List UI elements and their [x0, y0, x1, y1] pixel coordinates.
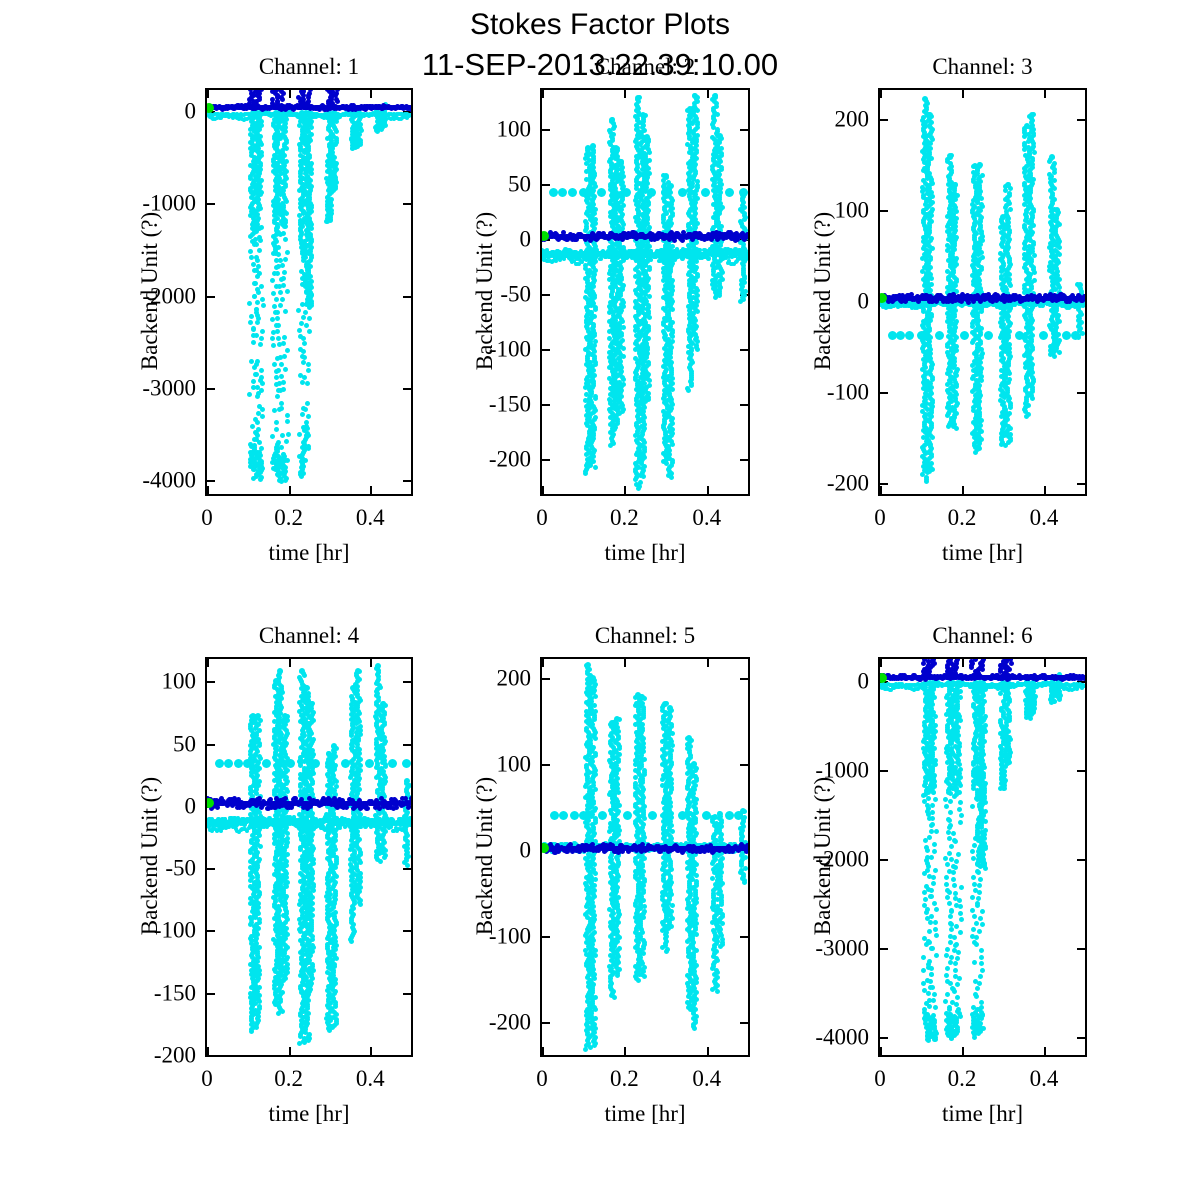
data-point: [408, 113, 412, 117]
x-tick: [962, 90, 964, 98]
data-point: [270, 278, 275, 283]
x-axis-title: time [hr]: [205, 540, 413, 566]
data-point: [259, 375, 264, 380]
data-point: [608, 443, 613, 448]
data-point: [283, 257, 288, 262]
data-point: [568, 188, 577, 197]
data-point: [303, 310, 308, 315]
subplot-title-1: Channel: 1: [205, 54, 413, 80]
data-point: [276, 440, 281, 445]
data-point: [259, 368, 264, 373]
data-point: [248, 249, 253, 254]
data-point: [617, 411, 622, 416]
data-point: [255, 394, 260, 399]
data-point: [260, 297, 265, 302]
y-tick-label: 0: [185, 100, 197, 123]
data-point: [277, 478, 282, 483]
data-point: [259, 284, 264, 289]
data-point: [284, 476, 289, 481]
data-point: [281, 283, 286, 288]
data-point: [260, 407, 265, 412]
data-point: [259, 336, 264, 341]
y-tick: [740, 404, 748, 406]
data-point: [279, 401, 284, 406]
y-tick-label: -50: [500, 282, 531, 305]
data-point: [669, 475, 674, 480]
y-tick: [880, 119, 888, 121]
data-point: [283, 309, 288, 314]
x-tick: [370, 486, 372, 494]
data-point: [678, 188, 687, 197]
data-point: [281, 341, 286, 346]
y-tick: [542, 294, 550, 296]
data-point: [279, 406, 284, 411]
data-point: [301, 360, 306, 365]
data-point: [279, 362, 284, 367]
x-tick: [962, 486, 964, 494]
data-point: [305, 401, 310, 406]
data-point: [300, 380, 305, 385]
y-tick-label: -150: [489, 392, 531, 415]
data-point: [256, 427, 261, 432]
y-tick: [542, 404, 550, 406]
data-point: [612, 427, 617, 432]
x-tick: [707, 90, 709, 98]
x-tick-label: 0.2: [274, 506, 303, 529]
data-point: [279, 445, 284, 450]
data-point: [280, 297, 285, 302]
data-point: [593, 307, 598, 312]
x-tick: [207, 486, 209, 494]
data-point: [251, 340, 256, 345]
data-point: [597, 188, 606, 197]
data-point: [276, 368, 281, 373]
data-point: [274, 297, 279, 302]
data-point: [303, 407, 308, 412]
data-point: [258, 477, 263, 482]
data-point: [641, 474, 646, 479]
data-point: [409, 105, 414, 110]
data-point: [285, 250, 290, 255]
subplot-channel-1: Channel: 10-1000-2000-3000-400000.20.4Ba…: [205, 88, 413, 496]
data-point: [306, 368, 311, 373]
data-point: [247, 392, 252, 397]
y-tick: [403, 388, 411, 390]
data-point: [259, 225, 264, 230]
data-point: [256, 264, 261, 269]
data-point: [275, 271, 280, 276]
data-point: [330, 89, 335, 94]
y-tick-label: 0: [520, 227, 532, 250]
data-point: [306, 362, 311, 367]
data-point: [257, 440, 262, 445]
data-point: [276, 245, 281, 250]
data-point: [275, 394, 280, 399]
data-point: [593, 396, 598, 401]
data-point: [254, 362, 259, 367]
x-tick: [1044, 90, 1046, 98]
data-point: [270, 336, 275, 341]
data-point: [272, 304, 277, 309]
data-point: [661, 188, 670, 197]
data-point: [281, 276, 286, 281]
data-point: [622, 188, 631, 197]
data-point: [593, 465, 598, 470]
data-point: [305, 381, 310, 386]
x-tick: [542, 486, 544, 494]
data-point: [248, 320, 253, 325]
y-tick: [542, 349, 550, 351]
data-point: [299, 474, 304, 479]
data-point: [549, 188, 558, 197]
y-tick: [542, 129, 550, 131]
data-point: [273, 251, 278, 256]
data-point: [281, 380, 286, 385]
data-point: [739, 188, 748, 197]
data-point: [701, 188, 710, 197]
data-point: [281, 231, 286, 236]
data-point: [325, 219, 330, 224]
data-point: [259, 388, 264, 393]
y-tick: [207, 388, 215, 390]
y-tick: [740, 184, 748, 186]
data-point: [249, 314, 254, 319]
y-tick-label: 100: [497, 117, 532, 140]
data-point: [302, 355, 307, 360]
data-point: [280, 263, 285, 268]
data-point: [692, 93, 698, 99]
y-tick: [207, 296, 215, 298]
y-tick: [880, 483, 888, 485]
data-point: [282, 335, 287, 340]
x-tick: [880, 486, 882, 494]
subplot-channel-2: Channel: 2100500-50-100-150-20000.20.4Ba…: [540, 88, 750, 496]
x-tick: [624, 486, 626, 494]
data-point: [257, 271, 262, 276]
data-point: [275, 225, 280, 230]
data-point: [647, 188, 656, 197]
data-point: [306, 414, 311, 419]
data-point: [286, 432, 291, 437]
x-tick: [1044, 486, 1046, 494]
y-tick: [403, 203, 411, 205]
data-point: [258, 342, 263, 347]
y-tick: [1077, 483, 1085, 485]
data-point: [643, 399, 648, 404]
data-point: [331, 188, 336, 193]
data-point: [695, 347, 700, 352]
y-tick: [207, 480, 215, 482]
data-point: [254, 229, 259, 234]
data-point: [725, 188, 734, 197]
data-point: [717, 293, 722, 298]
x-tick-label: 0.2: [610, 506, 639, 529]
data-point: [301, 336, 306, 341]
subplot-title-3: Channel: 3: [878, 54, 1087, 80]
data-point: [247, 301, 252, 306]
data-point: [301, 315, 306, 320]
y-tick-label: -200: [489, 447, 531, 470]
y-axis-title: Backend Unit (?): [137, 191, 163, 391]
data-point: [271, 343, 276, 348]
data-point: [256, 316, 261, 321]
plot-area-2: [540, 88, 750, 496]
data-point: [274, 420, 279, 425]
data-point: [296, 308, 301, 313]
data-point: [282, 224, 287, 229]
data-point: [302, 341, 307, 346]
data-point: [635, 95, 641, 101]
data-point: [281, 387, 286, 392]
data-point: [689, 383, 694, 388]
y-tick: [403, 480, 411, 482]
data-point: [302, 375, 307, 380]
data-point: [308, 88, 313, 92]
x-tick-label: 0: [201, 506, 213, 529]
data-point: [274, 427, 279, 432]
data-point: [254, 199, 259, 204]
data-point: [306, 446, 311, 451]
data-point: [712, 93, 718, 99]
data-point: [257, 248, 262, 253]
data-point: [254, 310, 259, 315]
data-point: [260, 329, 265, 334]
data-point: [251, 379, 256, 384]
subplot-channel-3: Channel: 32001000-100-20000.20.4Backend …: [878, 88, 1087, 496]
data-point: [745, 256, 750, 261]
subplot-title-2: Channel: 2: [540, 54, 750, 80]
data-point: [283, 367, 288, 372]
data-point: [259, 446, 264, 451]
data-point: [252, 443, 257, 448]
data-point: [738, 299, 743, 304]
x-tick: [370, 90, 372, 98]
data-point: [272, 362, 277, 367]
data-point: [258, 206, 263, 211]
data-point: [579, 188, 588, 197]
data-point: [249, 359, 254, 364]
data-point: [706, 256, 711, 261]
data-point: [670, 442, 675, 447]
data-point: [261, 303, 266, 308]
data-point: [282, 354, 287, 359]
y-tick: [542, 459, 550, 461]
plot-area-1: [205, 88, 413, 496]
y-tick: [1077, 210, 1085, 212]
data-point: [260, 381, 265, 386]
data-point: [258, 238, 263, 243]
data-point: [276, 336, 281, 341]
data-point: [285, 413, 290, 418]
x-tick-label: 0.4: [356, 506, 385, 529]
data-point: [301, 349, 306, 354]
x-tick: [707, 486, 709, 494]
data-point: [250, 424, 255, 429]
data-point: [279, 374, 284, 379]
data-point: [278, 290, 283, 295]
data-point: [282, 270, 287, 275]
y-tick: [740, 349, 748, 351]
x-tick: [880, 90, 882, 98]
data-point: [558, 188, 567, 197]
data-point: [647, 315, 652, 320]
x-tick-label: 0: [536, 506, 548, 529]
data-point: [273, 310, 278, 315]
plot-area-3: [878, 88, 1087, 496]
data-point: [255, 420, 260, 425]
x-tick: [289, 90, 291, 98]
data-point: [745, 234, 750, 239]
figure-title: Stokes Factor Plots: [0, 8, 1200, 42]
data-point: [253, 281, 258, 286]
data-point: [307, 316, 312, 321]
data-point: [271, 291, 276, 296]
y-tick-label: 50: [508, 172, 531, 195]
data-point: [335, 88, 340, 92]
x-tick: [207, 90, 209, 98]
y-tick: [740, 459, 748, 461]
data-point: [307, 305, 312, 310]
data-point: [256, 290, 261, 295]
y-tick-label: -4000: [142, 469, 196, 492]
data-point: [276, 323, 281, 328]
x-tick-label: 0.4: [692, 506, 721, 529]
data-point: [285, 289, 290, 294]
data-point: [275, 316, 280, 321]
data-point: [255, 433, 260, 438]
data-point: [275, 99, 280, 104]
data-point: [285, 348, 290, 353]
y-tick: [1077, 392, 1085, 394]
data-point: [259, 88, 264, 92]
data-point: [668, 183, 674, 189]
y-tick: [880, 210, 888, 212]
y-axis-title: Backend Unit (?): [472, 191, 498, 391]
data-point: [609, 117, 615, 123]
data-point: [302, 448, 307, 453]
data-point: [297, 328, 302, 333]
data-point: [307, 329, 312, 334]
data-point: [280, 433, 285, 438]
data-point: [355, 144, 360, 149]
y-tick: [542, 184, 550, 186]
data-point: [283, 237, 288, 242]
y-tick: [740, 129, 748, 131]
x-tick: [542, 90, 544, 98]
data-point: [686, 388, 691, 393]
data-point: [636, 486, 641, 491]
data-point: [300, 412, 305, 417]
data-point: [745, 252, 750, 257]
data-point: [260, 414, 265, 419]
data-point: [255, 212, 260, 217]
data-point: [278, 303, 283, 308]
data-point: [304, 323, 309, 328]
data-point: [583, 471, 588, 476]
data-point: [285, 419, 290, 424]
data-point: [297, 432, 302, 437]
x-tick: [289, 486, 291, 494]
data-point: [255, 258, 260, 263]
x-axis-title: time [hr]: [540, 540, 750, 566]
data-point: [284, 439, 289, 444]
data-point: [663, 173, 669, 179]
data-point: [270, 434, 275, 439]
y-tick: [403, 296, 411, 298]
data-point: [618, 159, 624, 165]
y-tick: [207, 203, 215, 205]
x-tick: [624, 90, 626, 98]
y-tick: [1077, 119, 1085, 121]
y-tick: [880, 392, 888, 394]
data-point: [275, 329, 280, 334]
